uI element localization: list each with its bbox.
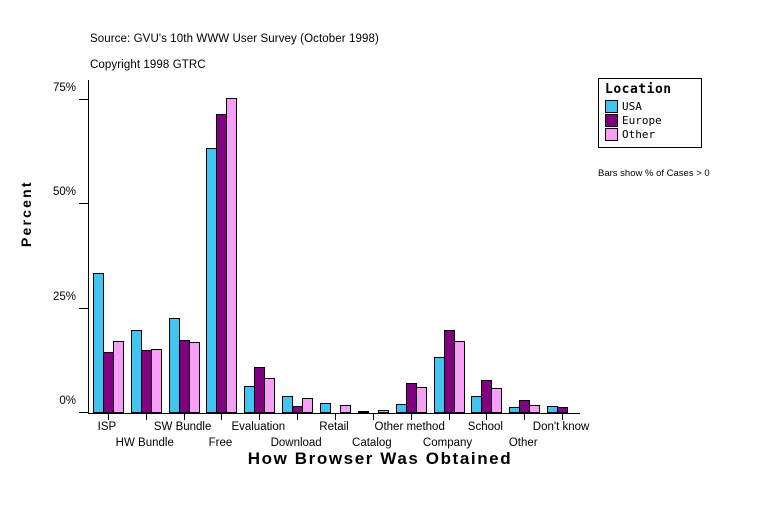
x-axis-tick-label: Retail	[319, 421, 348, 433]
y-axis-title: Percent	[18, 180, 34, 247]
legend-item[interactable]: Europe	[605, 114, 693, 127]
x-axis-tick-label: SW Bundle	[154, 421, 212, 433]
x-axis-tick	[411, 413, 412, 420]
bar	[340, 405, 351, 413]
bar-group	[467, 80, 505, 413]
legend-item-label: Europe	[622, 114, 662, 127]
y-axis-tick-label: 50%	[53, 186, 76, 198]
legend-entries: USAEuropeOther	[605, 100, 693, 141]
x-axis-tick-label: Other method	[375, 421, 445, 433]
bar	[454, 341, 465, 413]
bar-group	[354, 80, 392, 413]
bar	[113, 341, 124, 413]
bar-group	[316, 80, 354, 413]
y-axis-tick-label: 75%	[53, 82, 76, 94]
chart-page: Source: GVU's 10th WWW User Survey (Octo…	[0, 0, 760, 506]
bar	[529, 405, 540, 413]
bar-group	[203, 80, 241, 413]
x-axis-tick-label: Download	[271, 437, 322, 449]
x-axis-tick	[373, 413, 374, 420]
y-axis-tick-label: 25%	[53, 291, 76, 303]
x-axis-tick	[486, 413, 487, 420]
x-axis-tick-label: Catalog	[352, 437, 392, 449]
bar	[189, 342, 200, 413]
x-axis-tick-label: Other	[509, 437, 538, 449]
source-annotation: Source: GVU's 10th WWW User Survey (Octo…	[90, 33, 379, 45]
x-axis-tick-label: Company	[423, 437, 472, 449]
bar	[358, 411, 369, 414]
y-axis-tick-label: 0%	[59, 395, 76, 407]
bar	[416, 387, 427, 413]
x-axis-tick-label: Don't know	[533, 421, 590, 433]
x-axis-tick-label: School	[468, 421, 503, 433]
y-axis-tick	[79, 203, 89, 204]
copyright-annotation: Copyright 1998 GTRC	[90, 59, 206, 71]
legend-swatch-icon	[605, 128, 618, 141]
plot-frame: 0%25%50%75%	[88, 80, 580, 414]
bar	[320, 403, 331, 413]
bar-group	[543, 80, 581, 413]
x-axis-tick-label: HW Bundle	[116, 437, 174, 449]
y-axis-tick	[79, 308, 89, 309]
bar	[264, 378, 275, 413]
y-axis-tick	[79, 99, 89, 100]
x-axis-tick-label: Evaluation	[231, 421, 285, 433]
x-axis-tick	[562, 413, 563, 420]
legend-item[interactable]: Other	[605, 128, 693, 141]
legend-title: Location	[605, 82, 693, 97]
bar	[378, 410, 389, 413]
bar	[491, 388, 502, 413]
x-axis-tick	[335, 413, 336, 420]
bar-group	[505, 80, 543, 413]
legend-item-label: Other	[622, 128, 655, 141]
bar	[151, 349, 162, 413]
y-axis-tick	[79, 412, 89, 413]
bar-group	[89, 80, 127, 413]
bar-group	[165, 80, 203, 413]
bar-group	[240, 80, 278, 413]
legend-footnote: Bars show % of Cases > 0	[598, 168, 710, 179]
legend-swatch-icon	[605, 114, 618, 127]
legend: Location USAEuropeOther	[598, 78, 702, 148]
x-axis-tick	[108, 413, 109, 420]
bar-group	[127, 80, 165, 413]
x-axis-tick	[297, 413, 298, 420]
x-axis-tick	[449, 413, 450, 420]
plot-area	[89, 80, 580, 413]
x-axis-tick	[259, 413, 260, 420]
x-axis-title: How Browser Was Obtained	[0, 449, 760, 469]
bar-group	[278, 80, 316, 413]
legend-item-label: USA	[622, 100, 642, 113]
x-axis-tick	[146, 413, 147, 420]
x-axis-tick	[184, 413, 185, 420]
legend-swatch-icon	[605, 100, 618, 113]
x-axis-tick-label: Free	[209, 437, 233, 449]
legend-item[interactable]: USA	[605, 100, 693, 113]
x-axis-tick-label: ISP	[98, 421, 117, 433]
bar	[226, 98, 237, 413]
x-axis-tick	[524, 413, 525, 420]
x-axis-tick	[221, 413, 222, 420]
bar-group	[392, 80, 430, 413]
bar	[302, 398, 313, 413]
bar-group	[430, 80, 468, 413]
